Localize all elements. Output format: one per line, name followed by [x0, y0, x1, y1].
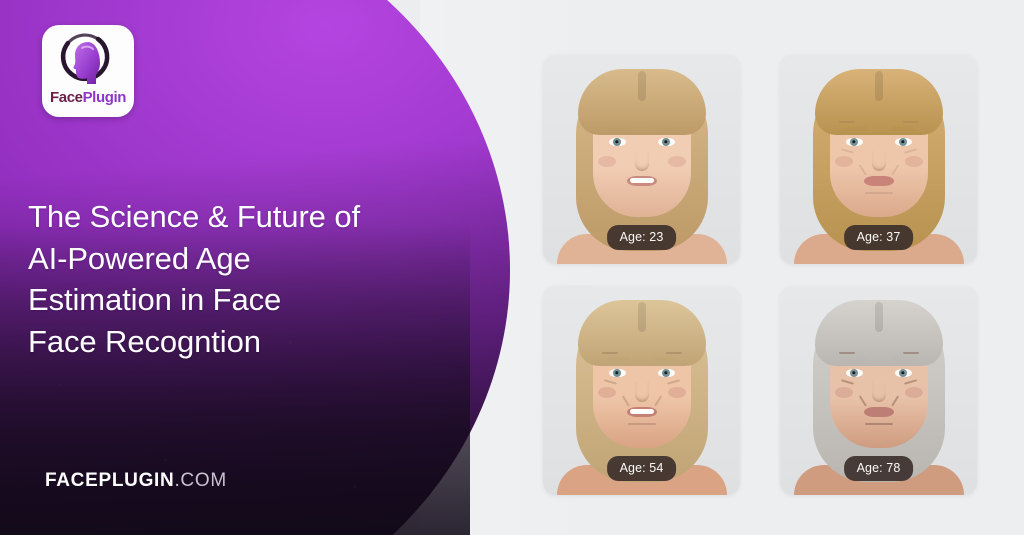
logo-word-face: Face [50, 89, 83, 106]
page-title: The Science & Future of AI-Powered Age E… [28, 196, 480, 362]
faceplugin-logo[interactable]: FacePlugin [42, 25, 134, 117]
headline-line-4: Face Recogntion [28, 321, 480, 363]
logo-word-plugin: Plugin [83, 89, 126, 106]
portrait-age-54[interactable]: Age: 54 [543, 286, 740, 495]
faceplugin-logo-wordmark: FacePlugin [42, 90, 134, 105]
age-badge: Age: 23 [607, 225, 677, 251]
banner-stage: FacePlugin The Science & Future of AI-Po… [0, 0, 1024, 535]
faceplugin-logo-icon [42, 29, 134, 89]
footer-website-url: FACEPLUGIN.COM [45, 471, 227, 490]
portrait-age-78[interactable]: Age: 78 [780, 286, 977, 495]
age-badge: Age: 54 [607, 456, 677, 482]
headline-line-3: Estimation in Face [28, 279, 480, 321]
age-badge: Age: 37 [844, 225, 914, 251]
headline-line-1: The Science & Future of [28, 196, 480, 238]
age-badge: Age: 78 [844, 456, 914, 482]
footer-brand-text: FACEPLUGIN [45, 470, 174, 491]
portrait-age-37[interactable]: Age: 37 [780, 55, 977, 264]
headline-line-2: AI-Powered Age [28, 238, 480, 280]
portrait-age-23[interactable]: Age: 23 [543, 55, 740, 264]
footer-tld-text: .COM [174, 470, 226, 491]
age-estimation-gallery: Age: 23 [543, 55, 977, 495]
